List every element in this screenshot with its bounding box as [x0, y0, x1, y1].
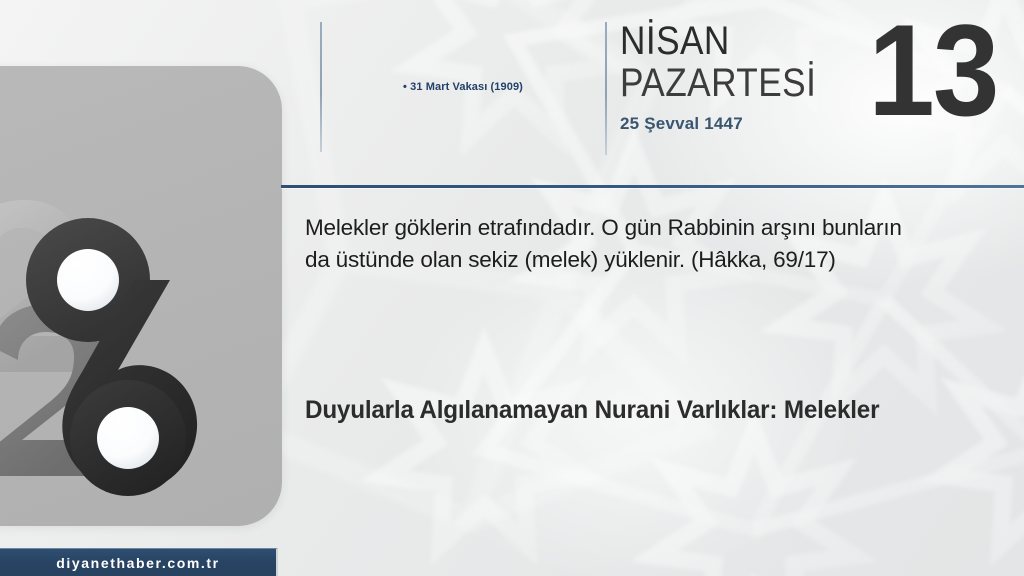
verse-text: Melekler göklerin etrafındadır. O gün Ra… — [305, 212, 925, 276]
divider-vertical-right — [605, 22, 607, 155]
weekday-label: PAZARTESİ — [620, 63, 822, 103]
article-title: Duyularla Algılanamayan Nurani Varlıklar… — [305, 390, 926, 431]
historical-note: • 31 Mart Vakası (1909) — [338, 80, 588, 94]
hijri-date: 25 Şevval 1447 — [620, 114, 850, 134]
website-footer-bar[interactable]: diyanethaber.com.tr — [0, 548, 278, 576]
website-url: diyanethaber.com.tr — [56, 555, 219, 571]
divider-vertical-left — [320, 22, 322, 152]
day-number: 13 — [869, 2, 998, 139]
month-label: NİSAN — [620, 22, 822, 60]
date-block: NİSAN PAZARTESİ 25 Şevval 1447 — [620, 22, 850, 134]
calendar-page: • 31 Mart Vakası (1909) NİSAN PAZARTESİ … — [0, 0, 1024, 576]
year-logo — [0, 176, 220, 506]
year-logo-card — [0, 66, 282, 526]
divider-horizontal — [281, 185, 1024, 188]
